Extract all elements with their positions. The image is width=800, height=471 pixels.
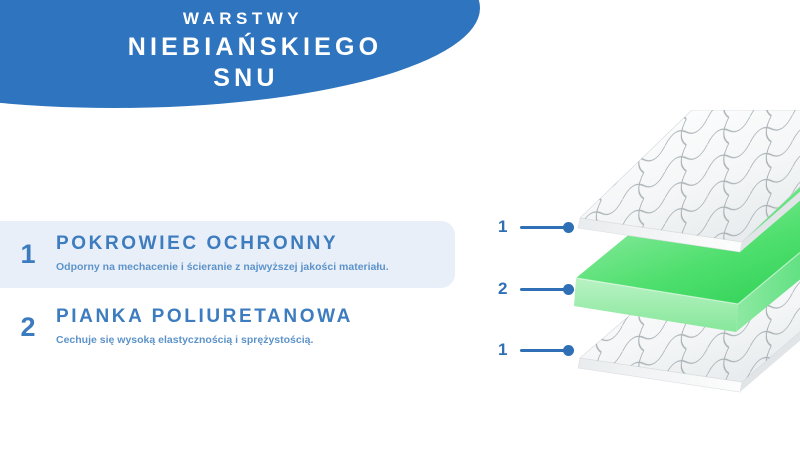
- feature-number-2: 2: [0, 297, 56, 341]
- infographic-canvas: WARSTWY NIEBIAŃSKIEGO SNU 1 POKROWIEC OC…: [0, 0, 800, 471]
- feature-number-1: 1: [0, 221, 56, 268]
- callout-leader-line-icon: [520, 226, 565, 229]
- feature-description-2: Cechuje się wysoką elastycznością i sprę…: [56, 332, 445, 348]
- feature-description-1: Odporny na mechacenie i ścieranie z najw…: [56, 259, 445, 275]
- feature-title-1: POKROWIEC OCHRONNY: [56, 232, 445, 256]
- feature-list: 1 POKROWIEC OCHRONNY Odporny na mechacen…: [0, 0, 470, 471]
- callout-leader-line-icon: [520, 349, 565, 352]
- feature-text-block-2: PIANKA POLIURETANOWA Cechuje się wysoką …: [56, 297, 455, 348]
- feature-text-block-1: POKROWIEC OCHRONNY Odporny na mechacenie…: [56, 221, 455, 275]
- callout-leader-line-icon: [520, 288, 565, 291]
- callout-label-2: 2: [498, 279, 520, 299]
- feature-title-2: PIANKA POLIURETANOWA: [56, 305, 445, 329]
- feature-item-2[interactable]: 2 PIANKA POLIURETANOWA Cechuje się wysok…: [0, 297, 455, 357]
- layer-stack-svg: [560, 110, 800, 400]
- callout-label-1: 1: [498, 217, 520, 237]
- feature-item-1[interactable]: 1 POKROWIEC OCHRONNY Odporny na mechacen…: [0, 221, 455, 288]
- callout-label-3: 1: [498, 340, 520, 360]
- mattress-layer-diagram: [560, 110, 800, 400]
